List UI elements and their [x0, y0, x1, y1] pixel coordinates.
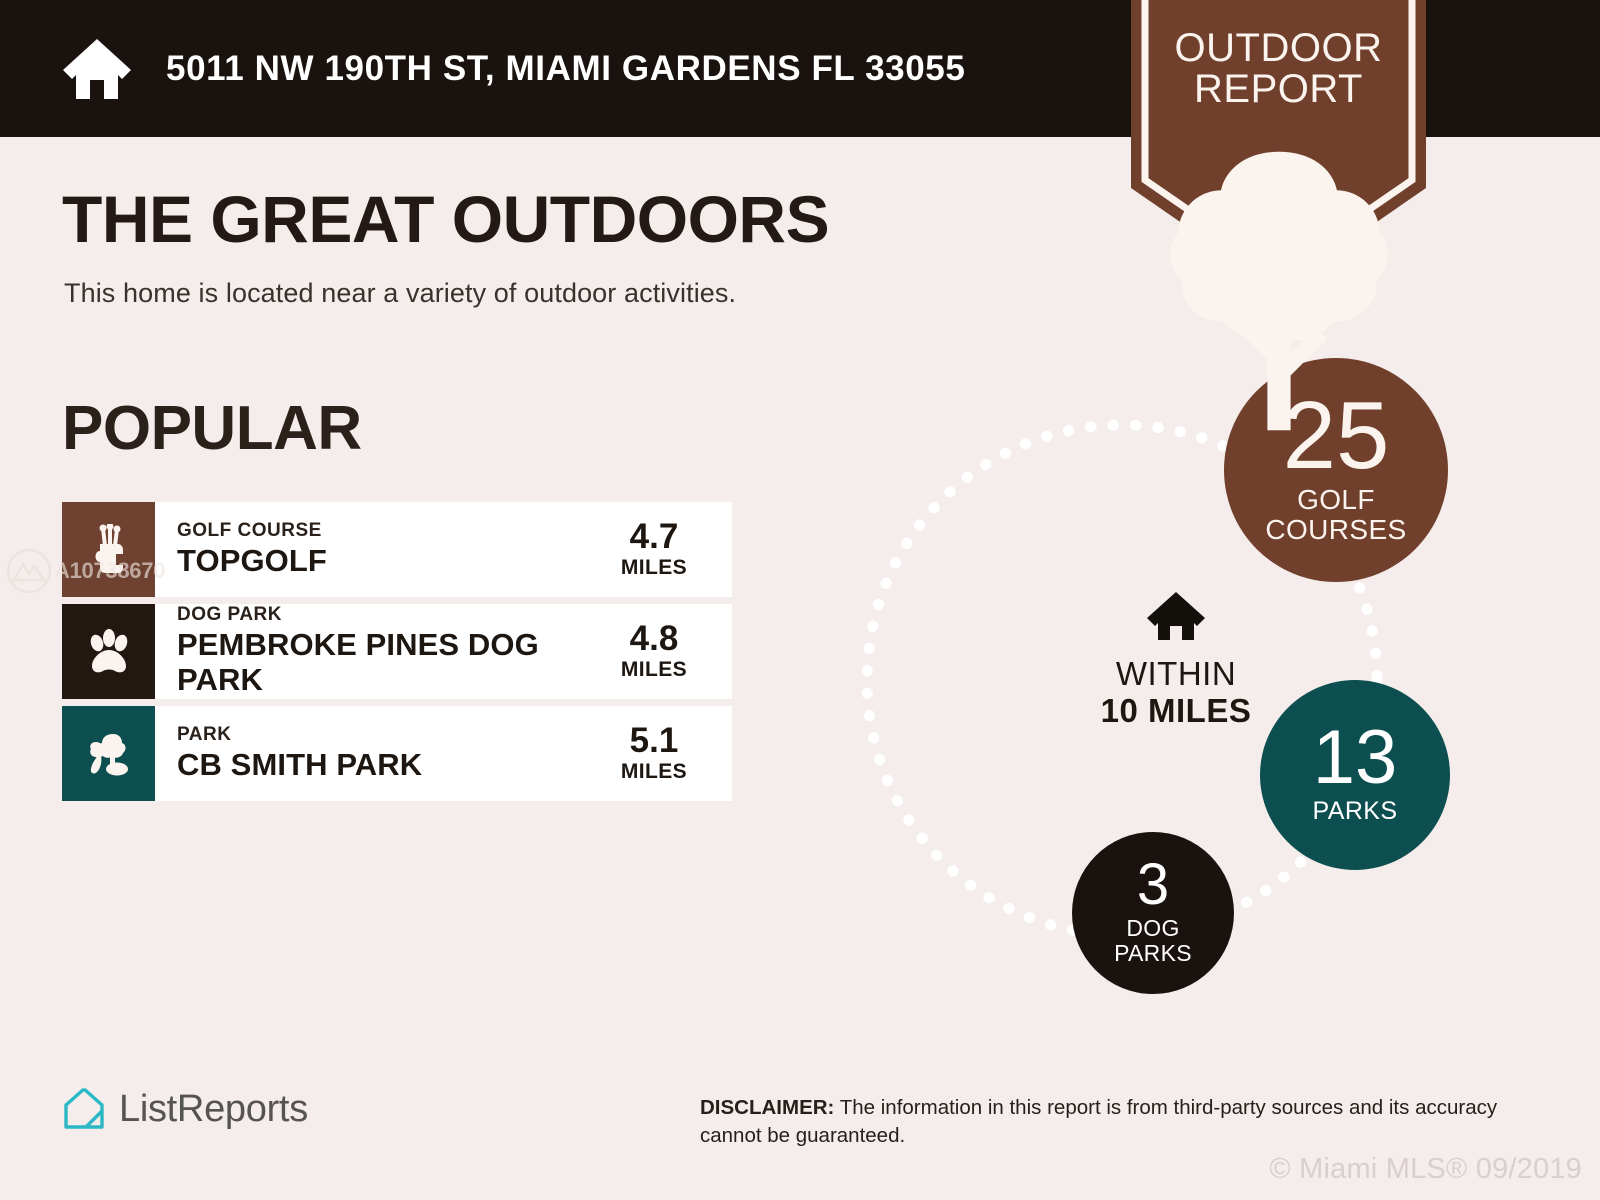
item-body: GOLF COURSE TOPGOLF [155, 502, 594, 597]
home-icon [1145, 590, 1207, 644]
listing-id-watermark: A10738670 [6, 548, 165, 594]
listreports-logo-text: ListReports [119, 1088, 308, 1131]
distance-value: 4.8 [630, 621, 679, 658]
within-10-miles-infographic: 25 GOLF COURSES 13 PARKS 3 DOG PARKS WIT… [830, 330, 1530, 1050]
distance-value: 5.1 [630, 723, 679, 760]
distance-unit: MILES [621, 556, 687, 580]
item-name: TOPGOLF [177, 543, 594, 579]
list-item[interactable]: DOG PARK PEMBROKE PINES DOG PARK 4.8 MIL… [62, 604, 732, 699]
item-category: GOLF COURSE [177, 521, 594, 542]
item-name: CB SMITH PARK [177, 747, 594, 783]
item-icon-tile [62, 604, 155, 699]
distance-value: 4.7 [630, 519, 679, 556]
stat-value: 13 [1313, 722, 1398, 794]
stat-label-line-1: DOG [1126, 915, 1179, 941]
listing-id: A10738670 [54, 558, 165, 584]
park-trees-icon [85, 728, 133, 780]
stat-label-line-1: GOLF [1297, 484, 1375, 515]
listreports-house-icon [62, 1085, 106, 1133]
stat-circle-dog-parks: 3 DOG PARKS [1072, 832, 1234, 994]
disclaimer: DISCLAIMER: The information in this repo… [700, 1094, 1510, 1150]
item-distance: 4.8 MILES [594, 604, 732, 699]
item-distance: 4.7 MILES [594, 502, 732, 597]
listreports-logo[interactable]: ListReports [62, 1085, 308, 1133]
stat-label: GOLF COURSES [1265, 485, 1406, 544]
tree-icon [1131, 144, 1426, 438]
mls-mountain-icon [6, 548, 52, 594]
badge-line-2: REPORT [1131, 69, 1426, 110]
list-item[interactable]: PARK CB SMITH PARK 5.1 MILES [62, 706, 732, 801]
item-body: PARK CB SMITH PARK [155, 706, 594, 801]
mls-copyright-watermark: © Miami MLS® 09/2019 [1269, 1153, 1582, 1186]
page-subtitle: This home is located near a variety of o… [64, 278, 736, 309]
stat-label: DOG PARKS [1114, 916, 1192, 965]
item-distance: 5.1 MILES [594, 706, 732, 801]
distance-unit: MILES [621, 658, 687, 682]
disclaimer-label: DISCLAIMER: [700, 1096, 834, 1119]
infographic-center: WITHIN 10 MILES [1026, 590, 1326, 730]
home-icon [60, 32, 134, 106]
stat-value: 3 [1137, 857, 1169, 912]
distance-unit: MILES [621, 760, 687, 784]
item-name: PEMBROKE PINES DOG PARK [177, 627, 594, 698]
outdoor-report-badge: OUTDOOR REPORT [1131, 0, 1426, 290]
item-category: PARK [177, 725, 594, 746]
item-icon-tile [62, 706, 155, 801]
stat-label: PARKS [1313, 798, 1398, 825]
center-label-within: WITHIN [1026, 656, 1326, 693]
badge-line-1: OUTDOOR [1175, 26, 1383, 70]
badge-title: OUTDOOR REPORT [1131, 28, 1426, 110]
page-title: THE GREAT OUTDOORS [62, 186, 829, 252]
stat-label-line-2: PARKS [1114, 940, 1192, 966]
center-label-distance: 10 MILES [1026, 693, 1326, 730]
item-category: DOG PARK [177, 605, 594, 626]
paw-icon [85, 626, 133, 678]
property-address: 5011 NW 190TH ST, MIAMI GARDENS FL 33055 [166, 49, 965, 89]
section-title-popular: POPULAR [62, 398, 362, 460]
stat-label-line-2: COURSES [1265, 514, 1406, 545]
item-body: DOG PARK PEMBROKE PINES DOG PARK [155, 604, 594, 699]
